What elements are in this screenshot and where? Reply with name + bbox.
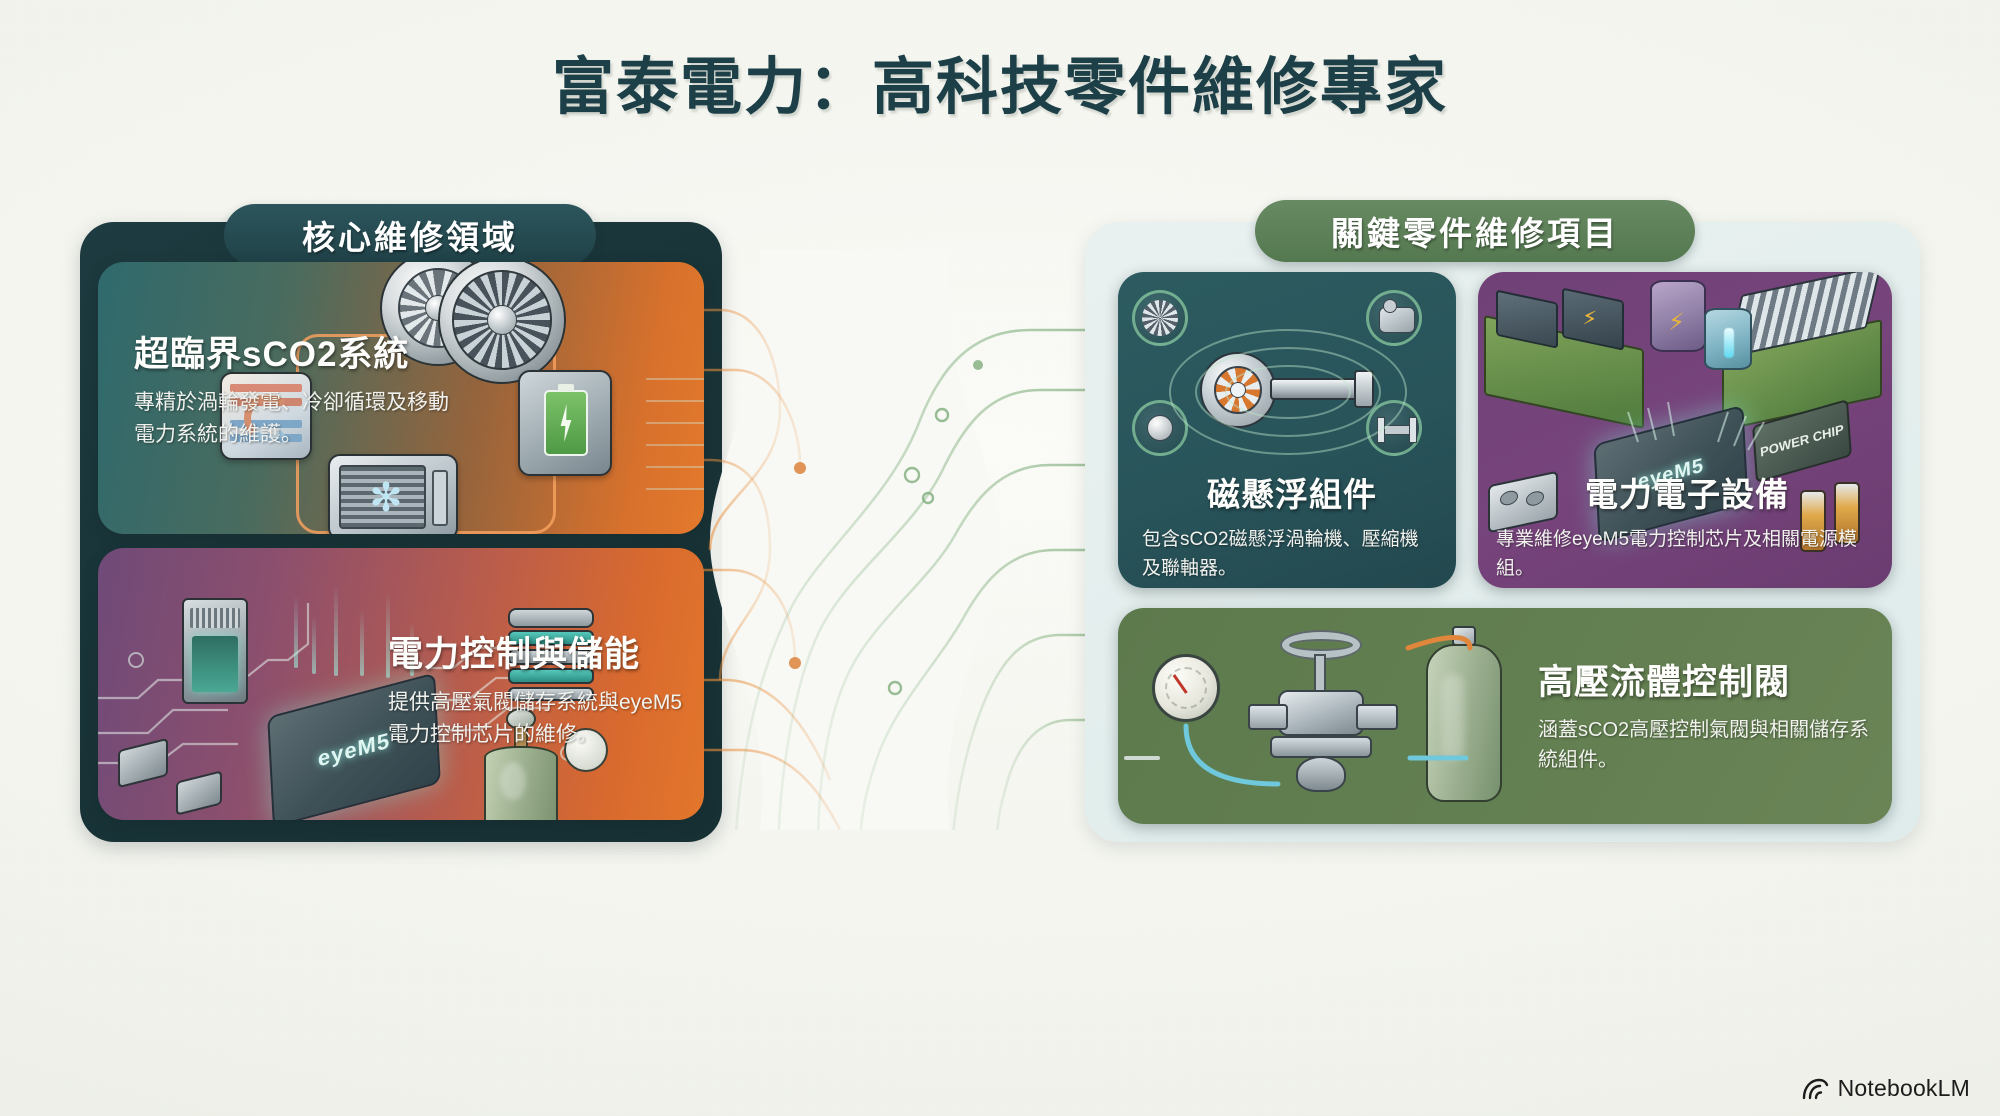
card-valves-text: 高壓流體控制閥 涵蓋sCO2高壓控制氣閥與相關儲存系統組件。 bbox=[1538, 654, 1878, 776]
section-header-core-repair: 核心維修領域 bbox=[224, 204, 596, 266]
card-power-electronics-text: 電力電子設備 專業維修eyeM5電力控制芯片及相關電源模組。 bbox=[1496, 468, 1878, 584]
card-valves-body: 涵蓋sCO2高壓控制氣閥與相關儲存系統組件。 bbox=[1538, 715, 1878, 776]
battery-icon bbox=[518, 370, 612, 476]
circuit-trace-icon bbox=[646, 370, 704, 490]
eyem5-chip-label: eyeM5 bbox=[317, 728, 391, 773]
card-maglev-heading: 磁懸浮組件 bbox=[1142, 468, 1442, 516]
card-sco2-heading: 超臨界sCO2系統 bbox=[134, 326, 464, 377]
card-power-control-text: 電力控制與儲能 提供高壓氣閥儲存系統與eyeM5電力控制芯片的維修。 bbox=[388, 626, 688, 751]
card-power-electronics-body: 專業維修eyeM5電力控制芯片及相關電源模組。 bbox=[1496, 526, 1876, 584]
magnetic-field-icon bbox=[1158, 312, 1418, 472]
card-valves-heading: 高壓流體控制閥 bbox=[1538, 654, 1878, 705]
watermark: NotebookLM bbox=[1801, 1075, 1970, 1102]
card-sco2-body: 專精於渦輪發電、冷卻循環及移動電力系統的維護。 bbox=[134, 387, 464, 451]
card-power-control-body: 提供高壓氣閥儲存系統與eyeM5電力控制芯片的維修。 bbox=[388, 687, 688, 751]
page-title: 富泰電力：高科技零件維修專家 bbox=[0, 36, 2000, 126]
card-maglev-components[interactable]: 磁懸浮組件 包含sCO2磁懸浮渦輪機、壓縮機及聯軸器。 bbox=[1118, 272, 1456, 588]
card-sco2-system[interactable]: ✻ 超臨界sCO2系統 專精於渦輪發電、冷卻循環及移動電力系統的維護。 bbox=[98, 262, 704, 534]
card-power-control-storage[interactable]: eyeM5 電力控制與儲能 提供高壓氣閥儲存系統與eyeM5電力控制芯片的維修。 bbox=[98, 548, 704, 820]
section-header-key-components-label: 關鍵零件維修項目 bbox=[1331, 207, 1619, 255]
card-power-control-heading: 電力控制與儲能 bbox=[388, 626, 688, 677]
server-rack-icon bbox=[182, 598, 248, 704]
card-power-electronics-heading: 電力電子設備 bbox=[1496, 468, 1878, 516]
card-maglev-body: 包含sCO2磁懸浮渦輪機、壓縮機及聯軸器。 bbox=[1142, 526, 1437, 584]
card-power-electronics[interactable]: ⚡ ⚡ eyeM5 POWER CHIP bbox=[1478, 272, 1892, 588]
notebooklm-logo-icon bbox=[1801, 1078, 1829, 1100]
watermark-label: NotebookLM bbox=[1838, 1075, 1970, 1102]
card-high-pressure-valves[interactable]: 高壓流體控制閥 涵蓋sCO2高壓控制氣閥與相關儲存系統組件。 bbox=[1118, 608, 1892, 824]
card-sco2-text: 超臨界sCO2系統 專精於渦輪發電、冷卻循環及移動電力系統的維護。 bbox=[134, 326, 464, 451]
section-header-core-repair-label: 核心維修領域 bbox=[302, 211, 518, 259]
card-maglev-text: 磁懸浮組件 包含sCO2磁懸浮渦輪機、壓縮機及聯軸器。 bbox=[1142, 468, 1442, 584]
cooling-unit-icon: ✻ bbox=[328, 454, 458, 534]
section-header-key-components: 關鍵零件維修項目 bbox=[1255, 200, 1695, 262]
